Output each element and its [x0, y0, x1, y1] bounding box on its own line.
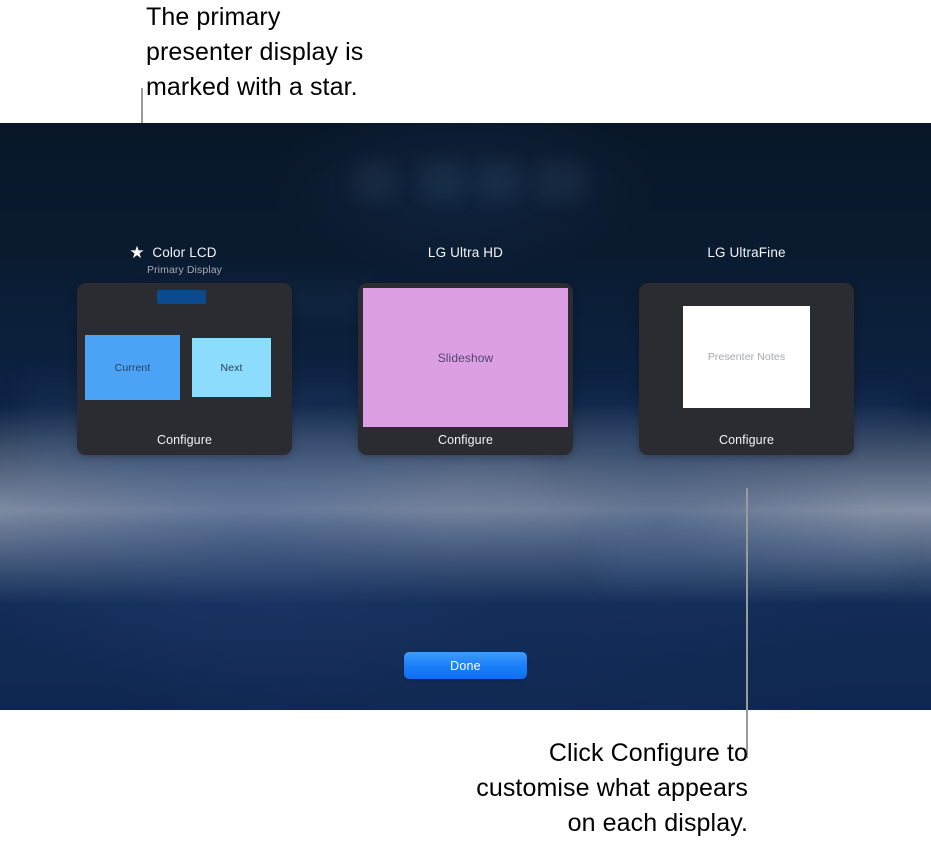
display-list: ★ Color LCD Primary Display Current Next… — [0, 123, 931, 710]
display-item-lg-ultrafine: LG UltraFine Presenter Notes Configure — [639, 283, 854, 455]
presenter-display-setup-screen: ★ Color LCD Primary Display Current Next… — [0, 123, 931, 710]
display-2-header: LG Ultra HD — [358, 245, 573, 261]
display-3-header: LG UltraFine — [639, 245, 854, 261]
menu-bar-chip — [157, 290, 206, 304]
configure-button-display-3[interactable]: Configure — [639, 433, 854, 447]
display-3-name: LG UltraFine — [707, 246, 785, 260]
display-item-lg-ultra-hd: LG Ultra HD Slideshow Configure — [358, 283, 573, 455]
done-button[interactable]: Done — [404, 652, 527, 679]
display-1-card[interactable]: Current Next Configure — [77, 283, 292, 455]
display-1-name: Color LCD — [152, 246, 216, 260]
display-1-subtitle: Primary Display — [77, 265, 292, 276]
pane-slideshow[interactable]: Slideshow — [363, 288, 568, 427]
display-2-card[interactable]: Slideshow Configure — [358, 283, 573, 455]
pane-next[interactable]: Next — [192, 338, 271, 397]
display-3-card[interactable]: Presenter Notes Configure — [639, 283, 854, 455]
display-1-header: ★ Color LCD Primary Display — [77, 245, 292, 276]
pane-presenter-notes[interactable]: Presenter Notes — [683, 306, 810, 408]
pane-current[interactable]: Current — [85, 335, 180, 400]
display-item-color-lcd: ★ Color LCD Primary Display Current Next… — [77, 283, 292, 455]
configure-button-display-1[interactable]: Configure — [77, 433, 292, 447]
callout-text-bottom: Click Configure to customise what appear… — [328, 736, 748, 841]
callout-text-top: The primary presenter display is marked … — [146, 0, 446, 105]
star-icon: ★ — [129, 244, 144, 261]
configure-button-display-2[interactable]: Configure — [358, 433, 573, 447]
leader-line-bottom — [746, 488, 748, 758]
display-2-name: LG Ultra HD — [428, 246, 503, 260]
